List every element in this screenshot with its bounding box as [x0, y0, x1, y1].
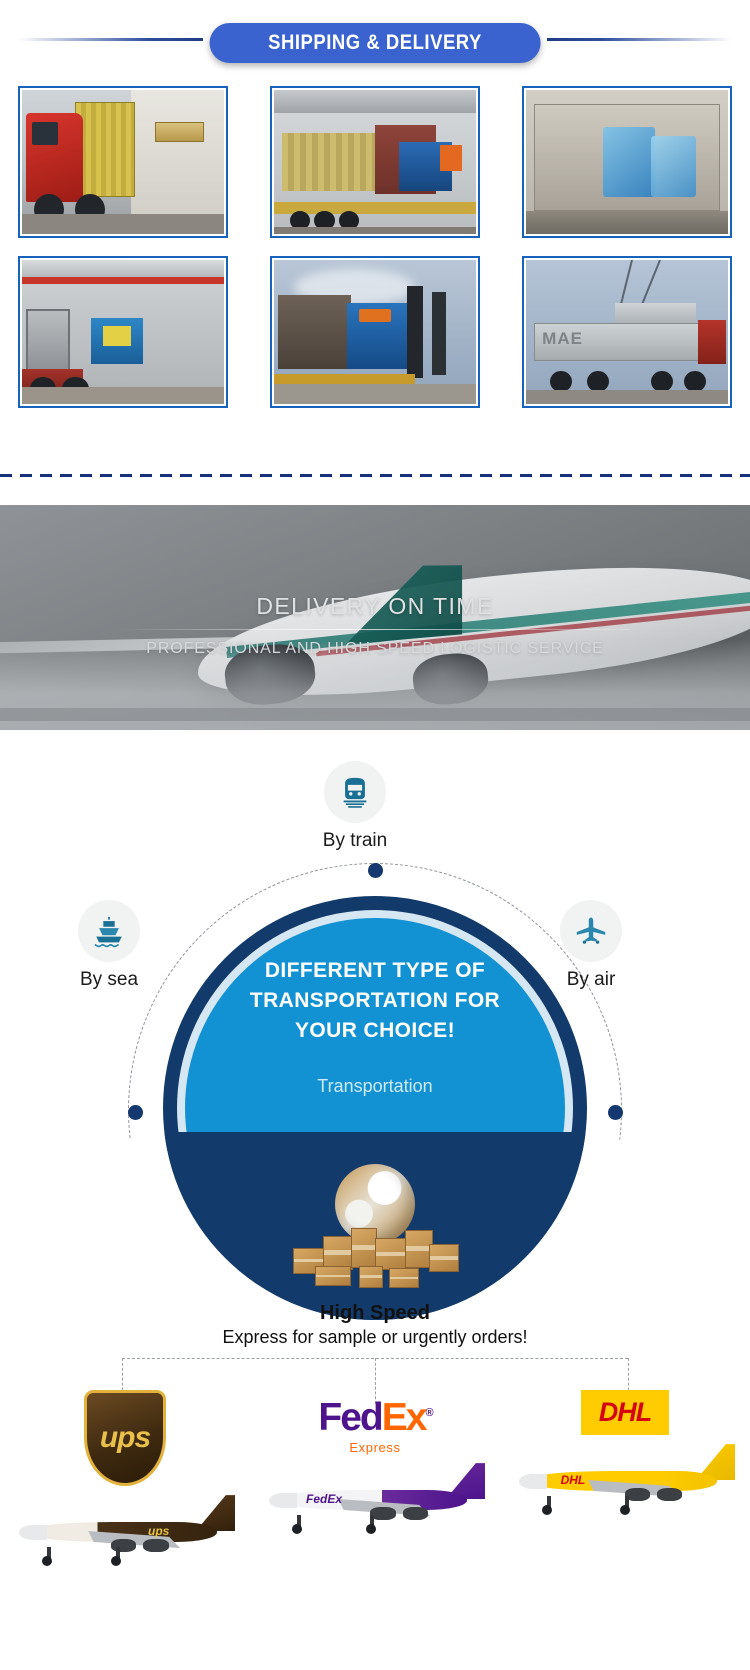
photo-forklift-loading-crusher[interactable]	[270, 256, 480, 408]
maersk-container-text: MAE	[542, 329, 583, 349]
airplane-icon	[560, 900, 622, 962]
mode-sea[interactable]: By sea	[49, 900, 169, 991]
arc-dot-air	[608, 1105, 623, 1120]
delivery-on-time-banner: DELIVERY ON TIME PROFESSIONAL AND HIGH S…	[0, 505, 750, 730]
photo-wrapped-goods-in-container[interactable]	[522, 86, 732, 238]
circle-headline-line2: TRANSPORTATION FOR	[163, 986, 587, 1016]
ups-logo: ups	[84, 1390, 166, 1486]
courier-ups[interactable]: ups ups	[0, 1390, 250, 1570]
header-rule-right	[547, 38, 732, 41]
fedex-logo: FedEx® Express	[250, 1398, 500, 1454]
page-title: SHIPPING & DELIVERY	[268, 31, 482, 55]
photo-red-truck-loading-container[interactable]	[18, 86, 228, 238]
dhl-logo-text: DHL	[599, 1397, 652, 1427]
mode-train-label: By train	[295, 830, 415, 852]
dhl-cargo-plane: DHL	[510, 1441, 740, 1519]
ship-icon	[78, 900, 140, 962]
fedex-cargo-plane: FedEx	[260, 1460, 490, 1538]
circle-headline-line1: DIFFERENT TYPE OF	[163, 956, 587, 986]
banner-subtitle: PROFESSIONAL AND HIGH SPEED LOGISTIC SER…	[0, 640, 750, 658]
parcel-boxes	[289, 1222, 465, 1292]
ups-logo-text: ups	[100, 1421, 150, 1455]
transportation-circle: DIFFERENT TYPE OF TRANSPORTATION FOR YOU…	[163, 896, 587, 1320]
shipping-photo-gallery: MAE	[18, 86, 732, 408]
photo-container-on-trailer[interactable]	[270, 86, 480, 238]
photo-maersk-container-truck[interactable]: MAE	[522, 256, 732, 408]
arc-dot-train	[368, 863, 383, 878]
fedex-plane-livery: FedEx	[306, 1492, 342, 1506]
mode-sea-label: By sea	[49, 969, 169, 991]
courier-fedex[interactable]: FedEx® Express FedEx	[250, 1398, 500, 1538]
courier-dhl[interactable]: DHL DHL	[500, 1390, 750, 1519]
high-speed-title: High Speed	[0, 1302, 750, 1325]
ups-cargo-plane: ups	[10, 1492, 240, 1570]
transportation-diagram: By train By sea By air	[0, 745, 750, 1305]
train-icon	[324, 761, 386, 823]
circle-headline-line3: YOUR CHOICE!	[163, 1016, 587, 1046]
dhl-plane-livery: DHL	[561, 1473, 586, 1487]
header-title-pill: SHIPPING & DELIVERY	[210, 23, 541, 63]
circle-headline: DIFFERENT TYPE OF TRANSPORTATION FOR YOU…	[163, 956, 587, 1045]
fedex-logo-sub: Express	[250, 1441, 500, 1454]
dhl-logo: DHL	[581, 1390, 670, 1435]
ups-plane-livery: ups	[148, 1524, 169, 1538]
banner-rule	[120, 629, 630, 630]
high-speed-subtitle: Express for sample or urgently orders!	[0, 1327, 750, 1348]
photo-forklift-in-workshop[interactable]	[18, 256, 228, 408]
arc-dot-sea	[128, 1105, 143, 1120]
circle-caption: Transportation	[163, 1076, 587, 1097]
section-header: SHIPPING & DELIVERY	[0, 0, 750, 76]
dashed-divider	[0, 474, 750, 477]
mode-train[interactable]: By train	[295, 761, 415, 852]
header-rule-left	[18, 38, 203, 41]
banner-title: DELIVERY ON TIME	[0, 593, 750, 620]
